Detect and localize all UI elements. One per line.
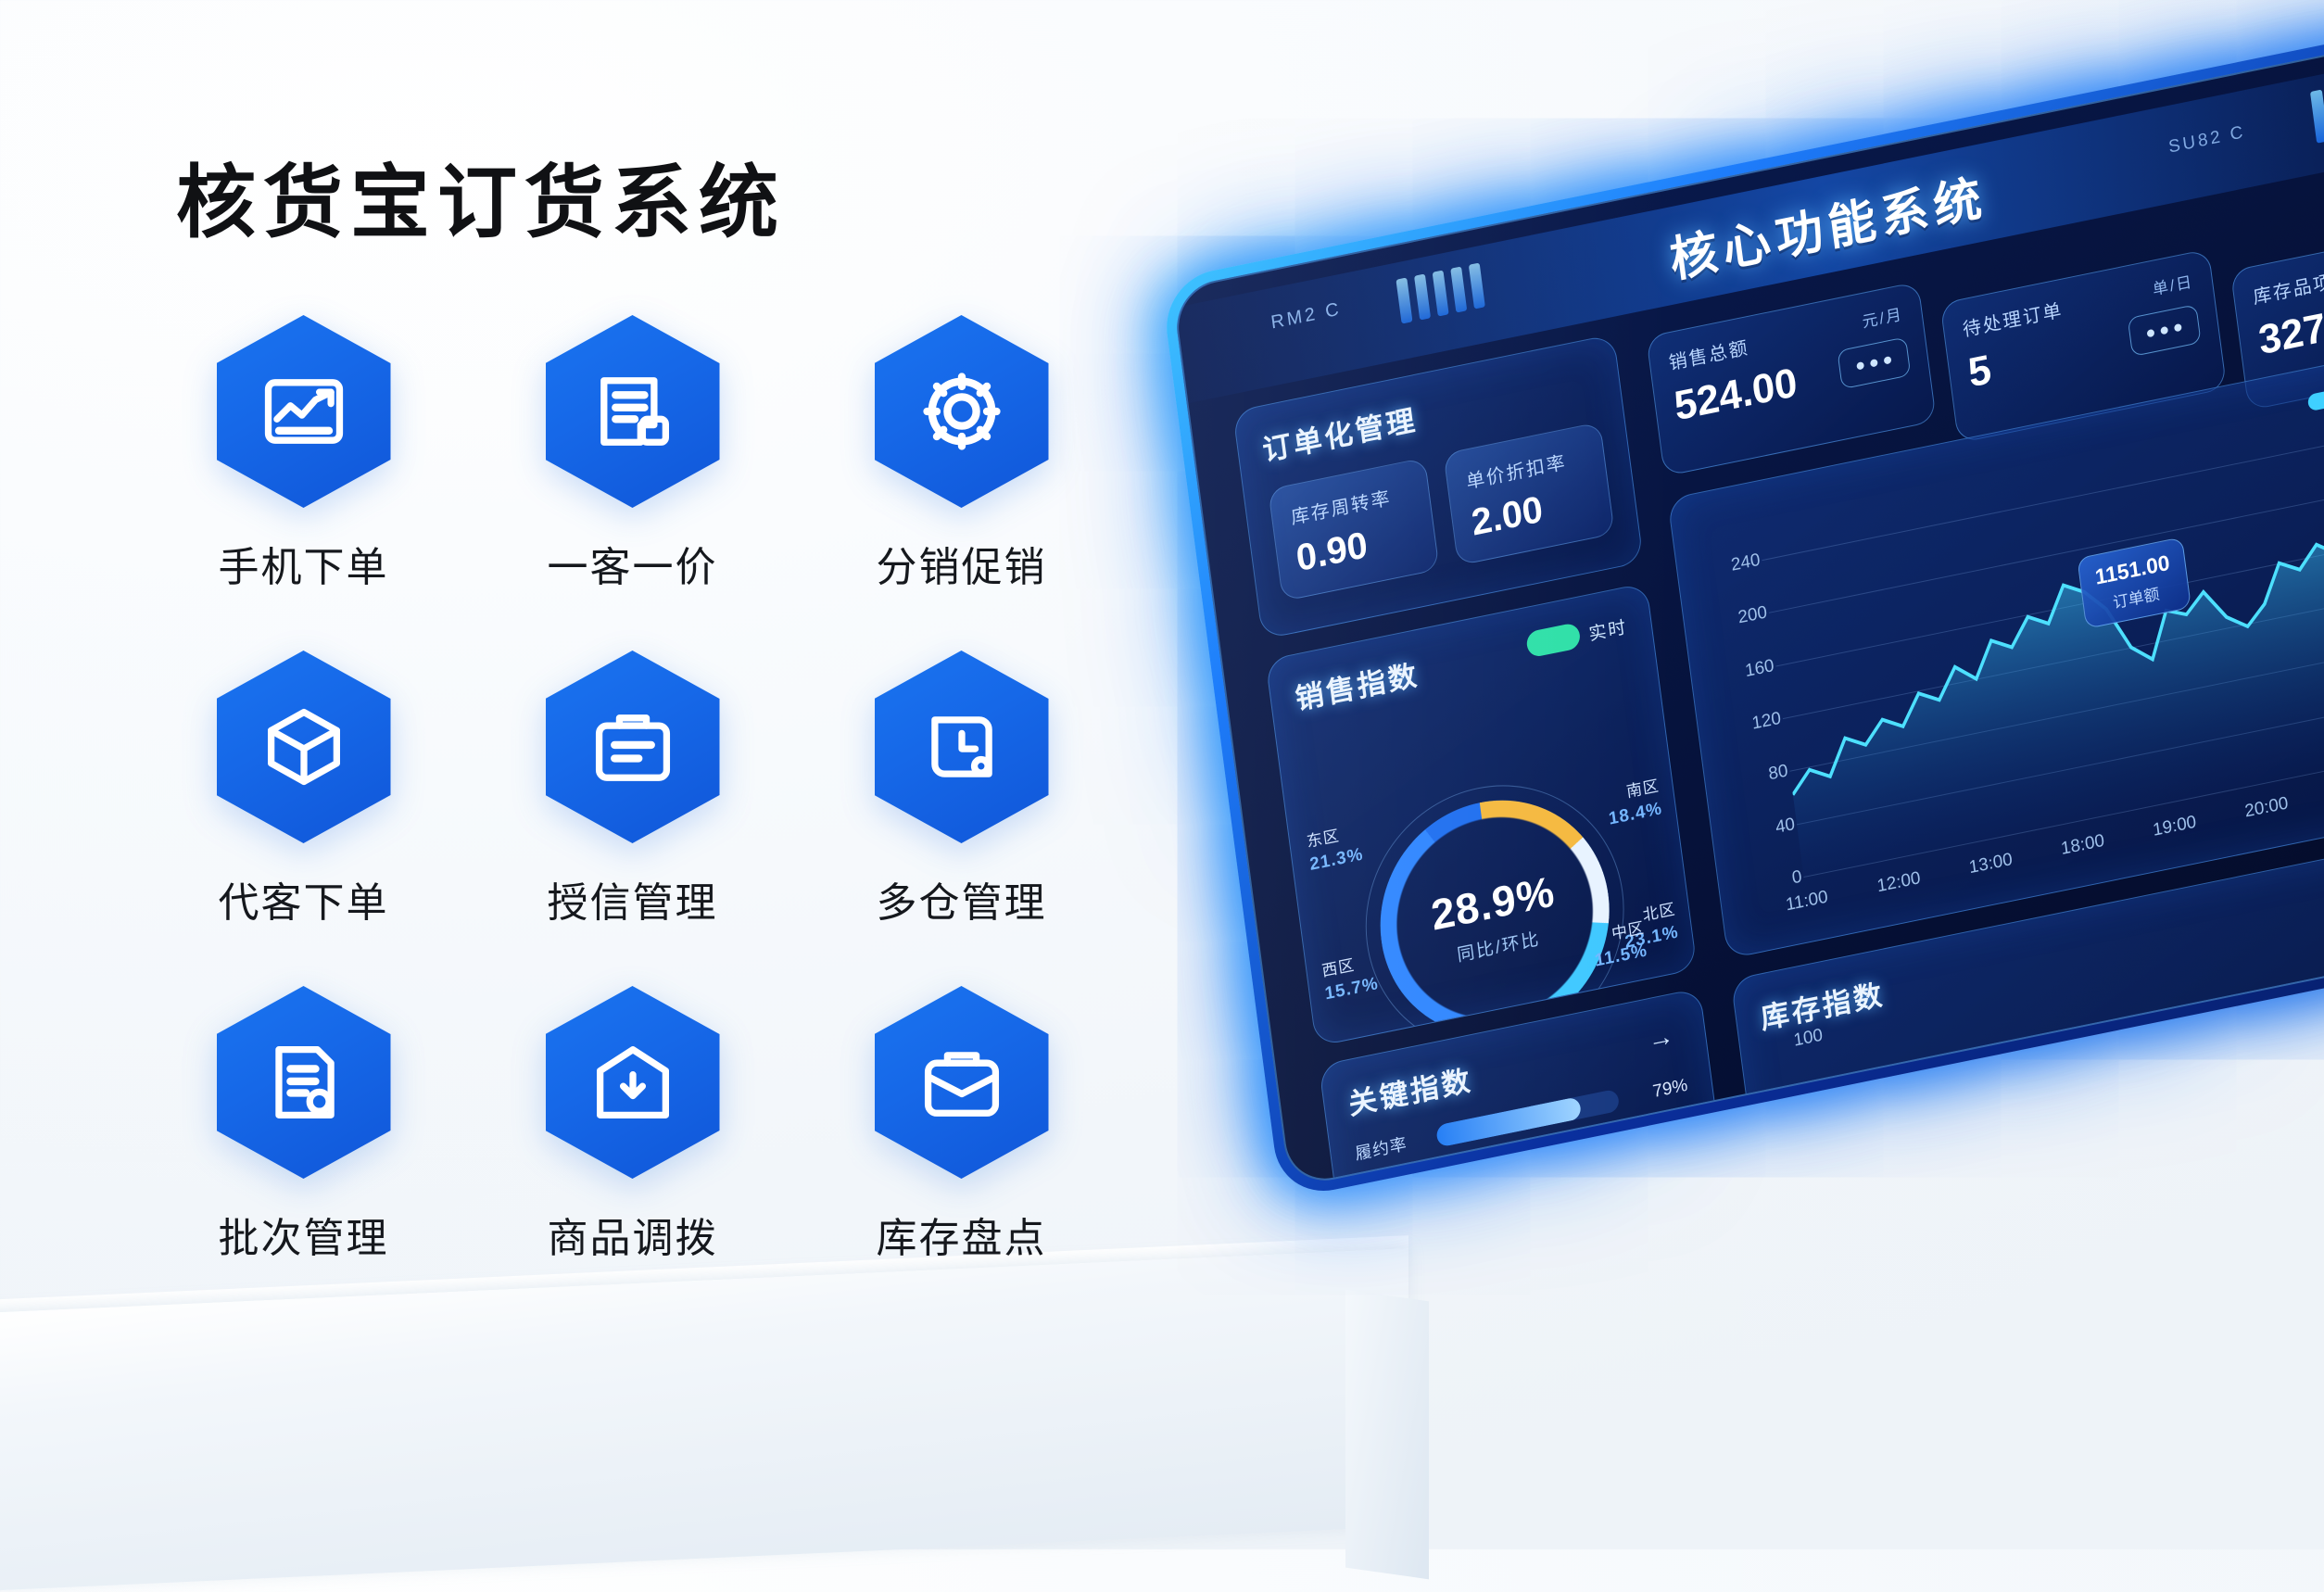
- kpi-label: 履约率: [1354, 1127, 1426, 1165]
- hex-badge: [546, 315, 720, 508]
- stat-value: 5: [1965, 331, 2071, 398]
- feature-item-credit-management[interactable]: 授信管理: [468, 651, 797, 986]
- y-tick: 0: [1791, 867, 1803, 890]
- legend-swatch-main: [2307, 386, 2324, 411]
- feature-item-stock-count[interactable]: 库存盘点: [797, 986, 1126, 1321]
- sales-index-panel: 销售指数 实时 28.9% 同比/环比 东区 21.3%: [1265, 582, 1698, 1046]
- dashboard-screen: 核心功能系统 RM2 C SU82 C 订单化管理 库存周转率 0.90: [1171, 26, 2324, 1188]
- donut-leader-label: 西区 15.7%: [1320, 951, 1380, 1006]
- bar: [2000, 1091, 2032, 1188]
- stat-sub: 单/日: [2123, 268, 2195, 305]
- sales-donut-chart[interactable]: 28.9% 同比/环比: [1366, 779, 1623, 1046]
- bar: [2085, 1112, 2113, 1188]
- feature-label: 库存盘点: [877, 1205, 1047, 1264]
- bar-group[interactable]: [1860, 1019, 1928, 1188]
- stat-value: 327: [2256, 302, 2324, 364]
- feature-pane: 核货宝订货系统 手机下单: [0, 0, 1158, 1316]
- chart-trend-icon: [256, 363, 352, 460]
- bar-group[interactable]: [2172, 956, 2241, 1175]
- feature-grid: 手机下单 一客一价: [139, 315, 1126, 1321]
- hex-badge: [875, 651, 1049, 843]
- feature-item-multi-warehouse[interactable]: 多仓管理: [797, 651, 1126, 986]
- bar-x-axis-ticks: 2019.0201820182019201920192020: [1858, 1111, 2324, 1189]
- feature-item-per-customer-price[interactable]: 一客一价: [468, 315, 797, 651]
- bar-x-tick: 2019: [2307, 1160, 2324, 1187]
- stat-sub: 元/月: [1832, 301, 1904, 338]
- feature-label: 批次管理: [219, 1205, 389, 1264]
- feature-label: 一客一价: [548, 534, 718, 593]
- y-tick: 120: [1750, 709, 1782, 735]
- bar: [2213, 1086, 2241, 1169]
- hex-badge: [217, 651, 391, 843]
- hex-badge: [546, 986, 720, 1179]
- y-tick: 40: [1775, 815, 1797, 839]
- bar-x-tick: 2019: [2204, 1181, 2242, 1189]
- stat-label: 库存品项: [2251, 266, 2324, 309]
- kpi-track: [1446, 1173, 1631, 1188]
- x-tick: 11:00: [1785, 887, 1829, 916]
- hex-badge: [217, 986, 391, 1179]
- x-tick: 20:00: [2243, 793, 2289, 822]
- feature-item-goods-transfer[interactable]: 商品调拨: [468, 986, 797, 1321]
- clock-warehouse-icon: [914, 699, 1010, 795]
- hex-badge: [875, 986, 1049, 1179]
- feature-item-mobile-order[interactable]: 手机下单: [139, 315, 468, 651]
- feature-label: 代客下单: [219, 869, 389, 929]
- y-tick: 200: [1737, 603, 1768, 629]
- feature-item-proxy-order[interactable]: 代客下单: [139, 651, 468, 986]
- bar-group[interactable]: [2067, 978, 2136, 1189]
- transfer-house-icon: [585, 1034, 681, 1131]
- tablet-bezel: 核心功能系统 RM2 C SU82 C 订单化管理 库存周转率 0.90: [1160, 14, 2324, 1201]
- x-tick: 12:00: [1876, 868, 1921, 897]
- bar: [2184, 1051, 2217, 1174]
- document-stamp-icon: [256, 1034, 352, 1131]
- x-tick: 18:00: [2060, 831, 2105, 860]
- inventory-case-icon: [914, 1034, 1010, 1131]
- order-metric-card[interactable]: 库存周转率 0.90: [1268, 457, 1439, 601]
- more-options-icon[interactable]: [1837, 336, 1911, 389]
- feature-label: 分销促销: [877, 534, 1047, 593]
- bar-y-tick: 100: [1792, 1025, 1824, 1051]
- hex-badge: [217, 315, 391, 508]
- kpi-value: 74%: [1641, 1160, 1700, 1188]
- bar-group[interactable]: [2276, 935, 2324, 1154]
- kpi-value: 79%: [1630, 1076, 1689, 1107]
- bar: [1880, 1180, 1904, 1188]
- bar: [2298, 1107, 2321, 1153]
- donut-leader-label: 南区 18.4%: [1605, 776, 1664, 831]
- bar-y-tick: 50: [1816, 1131, 1838, 1155]
- box-cube-icon: [256, 699, 352, 795]
- feature-label: 手机下单: [219, 534, 389, 593]
- kpi-fill: [1446, 1187, 1566, 1189]
- bar-group[interactable]: [1964, 998, 2032, 1188]
- feature-label: 商品调拨: [548, 1205, 718, 1264]
- order-metric-card[interactable]: 单价折扣率 2.00: [1443, 422, 1614, 566]
- hex-badge: [546, 651, 720, 843]
- y-tick: 240: [1730, 550, 1762, 576]
- donut-leader-label: 中区 11.5%: [1591, 918, 1649, 974]
- bar: [1901, 1154, 1928, 1188]
- feature-label: 授信管理: [548, 869, 718, 929]
- y-tick: 80: [1767, 762, 1789, 786]
- stat-card-sales-total[interactable]: 销售总额 524.00 元/月: [1646, 281, 1937, 476]
- feature-label: 多仓管理: [877, 869, 1047, 929]
- bar: [2097, 1023, 2136, 1188]
- donut-leader-label: 东区 21.3%: [1306, 822, 1365, 878]
- bar: [1983, 1148, 2009, 1188]
- kpi-fill: [1435, 1096, 1582, 1147]
- dashboard-title: 核心功能系统: [1665, 158, 1990, 291]
- page-title: 核货宝订货系统: [176, 137, 786, 253]
- more-options-icon[interactable]: [2128, 304, 2202, 357]
- document-lines-icon: [585, 363, 681, 460]
- gear-icon: [914, 363, 1010, 460]
- y-tick: 160: [1744, 656, 1775, 682]
- bar-y-tick: 25: [1823, 1182, 1845, 1188]
- x-tick: 13:00: [1968, 850, 2014, 878]
- x-tick: 19:00: [2152, 812, 2197, 840]
- arrow-right-icon[interactable]: →: [1646, 1021, 1675, 1055]
- bar: [2320, 1091, 2324, 1149]
- donut-center: 28.9% 同比/环比: [1366, 779, 1623, 1046]
- feature-item-batch-management[interactable]: 批次管理: [139, 986, 468, 1321]
- tablet-device: 核心功能系统 RM2 C SU82 C 订单化管理 库存周转率 0.90: [1029, 0, 2324, 1500]
- hex-badge: [875, 315, 1049, 508]
- briefcase-card-icon: [585, 699, 681, 795]
